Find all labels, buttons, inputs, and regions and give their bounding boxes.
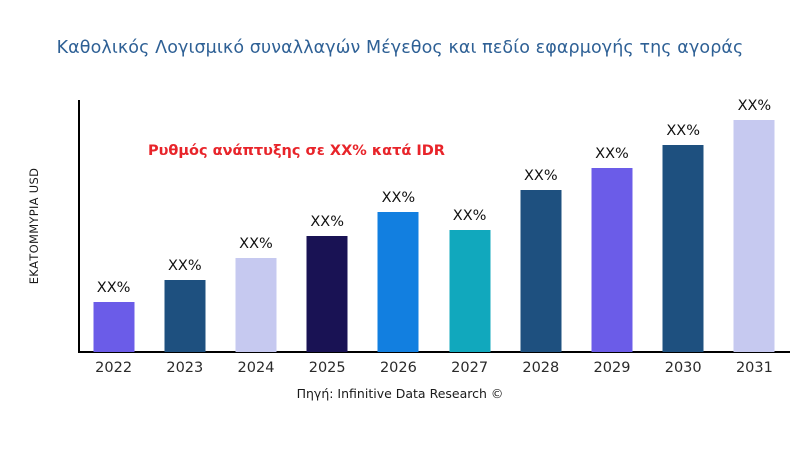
bar-value-label-2024: XX% bbox=[239, 236, 273, 252]
bar-chart-figure: Καθολικός Λογισμικό συναλλαγών Μέγεθος κ… bbox=[0, 0, 800, 450]
bar-value-label-2025: XX% bbox=[310, 214, 344, 230]
bar-2027[interactable] bbox=[449, 230, 490, 352]
x-tick-label-2028: 2028 bbox=[522, 360, 559, 376]
bar-value-label-2026: XX% bbox=[382, 190, 416, 206]
bar-2022[interactable] bbox=[93, 302, 134, 352]
bar-value-label-2030: XX% bbox=[666, 123, 700, 139]
bar-value-label-2028: XX% bbox=[524, 168, 558, 184]
bar-group-2030: XX% bbox=[648, 100, 719, 352]
bar-group-2027: XX% bbox=[434, 100, 505, 352]
bar-group-2022: XX% bbox=[78, 100, 149, 352]
bar-2031[interactable] bbox=[734, 120, 775, 352]
x-tick-label-2024: 2024 bbox=[238, 360, 275, 376]
growth-rate-annotation: Ρυθμός ανάπτυξης σε XX% κατά IDR bbox=[148, 143, 445, 159]
bar-group-2023: XX% bbox=[149, 100, 220, 352]
bar-group-2031: XX% bbox=[719, 100, 790, 352]
x-tick-label-2026: 2026 bbox=[380, 360, 417, 376]
x-tick-label-2031: 2031 bbox=[736, 360, 773, 376]
bar-value-label-2023: XX% bbox=[168, 258, 202, 274]
x-tick-label-2023: 2023 bbox=[166, 360, 203, 376]
bar-group-2024: XX% bbox=[220, 100, 291, 352]
bar-2023[interactable] bbox=[164, 280, 205, 352]
y-axis-title-wrapper: ΕΚΑΤΟΜΜΥΡΙΑ USD bbox=[22, 100, 46, 352]
bar-group-2025: XX% bbox=[292, 100, 363, 352]
bar-2024[interactable] bbox=[235, 258, 276, 352]
x-tick-label-2025: 2025 bbox=[309, 360, 346, 376]
bar-2029[interactable] bbox=[591, 168, 632, 352]
bar-value-label-2027: XX% bbox=[453, 208, 487, 224]
bar-group-2026: XX% bbox=[363, 100, 434, 352]
bar-value-label-2029: XX% bbox=[595, 146, 629, 162]
y-axis-title: ΕΚΑΤΟΜΜΥΡΙΑ USD bbox=[27, 168, 41, 285]
plot-area: XX%XX%XX%XX%XX%XX%XX%XX%XX%XX% bbox=[78, 100, 790, 352]
chart-title: Καθολικός Λογισμικό συναλλαγών Μέγεθος κ… bbox=[0, 38, 800, 58]
x-tick-label-2029: 2029 bbox=[594, 360, 631, 376]
bar-2025[interactable] bbox=[307, 236, 348, 352]
x-tick-label-2030: 2030 bbox=[665, 360, 702, 376]
bar-value-label-2022: XX% bbox=[97, 280, 131, 296]
bar-value-label-2031: XX% bbox=[738, 98, 772, 114]
bar-group-2028: XX% bbox=[505, 100, 576, 352]
bar-2030[interactable] bbox=[663, 145, 704, 352]
source-attribution: Πηγή: Infinitive Data Research © bbox=[0, 386, 800, 401]
x-tick-label-2027: 2027 bbox=[451, 360, 488, 376]
bar-group-2029: XX% bbox=[576, 100, 647, 352]
bar-2028[interactable] bbox=[520, 190, 561, 352]
bar-2026[interactable] bbox=[378, 212, 419, 352]
x-tick-label-2022: 2022 bbox=[95, 360, 132, 376]
